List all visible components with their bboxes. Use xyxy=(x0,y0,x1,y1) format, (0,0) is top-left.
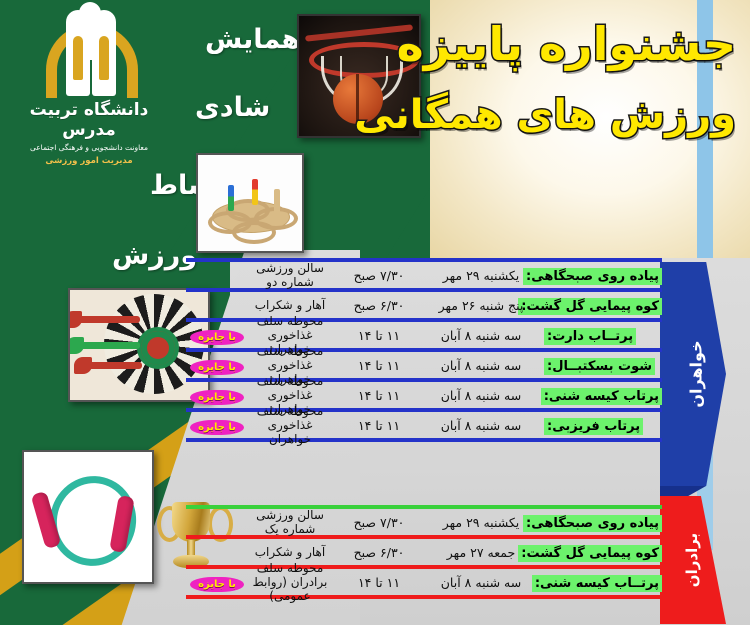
dart-green-1 xyxy=(78,342,140,349)
row-date: سه شنبه ۸ آبان xyxy=(422,328,540,343)
logo-university-name: دانشگاه تربیت مدرس xyxy=(14,100,164,140)
row-location: آهار و شکراب xyxy=(248,298,336,312)
row-date: یکشنبه ۲۹ مهر xyxy=(422,515,540,530)
decor-word-varzesh: ورزش xyxy=(112,240,197,271)
prize-badge: با جایزه xyxy=(190,577,244,592)
row-activity-label: شوت بسکتبــال: xyxy=(540,355,662,375)
logo-department-text: مدیریت امور ورزشی xyxy=(45,156,132,166)
women-schedule-table: پیاده روی صبحگاهی:یکشنبه ۲۹ مهر۷/۳۰ صبحس… xyxy=(186,258,662,442)
row-activity-label: پرتــاب کیسه شنی: xyxy=(540,572,662,592)
poster-canvas: دانشگاه تربیت مدرس معاونت دانشجویی و فره… xyxy=(0,0,750,625)
row-date: پنج شنبه ۲۶ مهر xyxy=(422,298,540,313)
row-prize-cell: با جایزه xyxy=(186,415,248,435)
row-time: ۷/۳۰ صبح xyxy=(336,268,422,283)
row-location: آهار و شکراب xyxy=(248,545,336,559)
row-activity-label: پیاده روی صبحگاهی: xyxy=(540,265,662,285)
ring-toss-photo xyxy=(196,153,304,253)
row-location: سالن ورزشی شماره یک xyxy=(248,508,336,536)
row-location: سالن ورزشی شماره دو xyxy=(248,261,336,289)
prize-badge: با جایزه xyxy=(190,330,244,345)
men-schedule-table: پیاده روی صبحگاهی:یکشنبه ۲۹ مهر۷/۳۰ صبحس… xyxy=(186,505,662,599)
row-activity-label: پرتــاب دارت: xyxy=(540,325,662,345)
logo-emblem-icon xyxy=(30,6,148,98)
row-time: ۱۱ تا ۱۴ xyxy=(336,328,422,343)
table-row: پرتاب فریزبی:سه شنبه ۸ آبان۱۱ تا ۱۴محوطه… xyxy=(186,412,662,438)
row-activity-text: پرتــاب دارت: xyxy=(544,328,636,345)
decor-word-shadi: شادی xyxy=(195,92,270,123)
row-activity-text: پیاده روی صبحگاهی: xyxy=(523,515,662,532)
ring-toss-peg-red xyxy=(252,179,258,205)
row-activity-label: پیاده روی صبحگاهی: xyxy=(540,512,662,532)
row-date: سه شنبه ۸ آبان xyxy=(422,418,540,433)
row-location: محوطه سلف برادران (روابط عمومی) xyxy=(248,561,336,603)
row-prize-cell: با جایزه xyxy=(186,572,248,592)
prize-badge: با جایزه xyxy=(190,420,244,435)
row-activity-text: پیاده روی صبحگاهی: xyxy=(523,268,662,285)
table-row: پیاده روی صبحگاهی:یکشنبه ۲۹ مهر۷/۳۰ صبحس… xyxy=(186,262,662,288)
row-time: ۱۱ تا ۱۴ xyxy=(336,358,422,373)
row-date: سه شنبه ۸ آبان xyxy=(422,388,540,403)
logo-tulip-right xyxy=(92,10,116,96)
row-time: ۷/۳۰ صبح xyxy=(336,515,422,530)
row-activity-text: پرتاب کیسه شنی: xyxy=(541,388,662,405)
row-activity-label: کوه پیمایی گل گشت: xyxy=(540,542,662,562)
row-time: ۱۱ تا ۱۴ xyxy=(336,388,422,403)
row-prize-cell: با جایزه xyxy=(186,355,248,375)
row-activity-text: پرتــاب کیسه شنی: xyxy=(532,575,662,592)
logo-department-line: مدیریت امور ورزشی xyxy=(14,156,164,167)
row-prize-cell: با جایزه xyxy=(186,385,248,405)
men-arrow-label: برادران xyxy=(683,480,701,625)
row-date: سه شنبه ۸ آبان xyxy=(422,575,540,590)
women-arrow-label: خواهران xyxy=(687,274,706,474)
row-time: ۶/۳۰ صبح xyxy=(336,545,422,560)
row-time: ۱۱ تا ۱۴ xyxy=(336,418,422,433)
prize-badge: با جایزه xyxy=(190,390,244,405)
row-prize-cell: با جایزه xyxy=(186,325,248,345)
dart-red-1 xyxy=(76,316,140,323)
prize-badge: با جایزه xyxy=(190,360,244,375)
row-activity-label: پرتاب فریزبی: xyxy=(540,415,662,435)
row-activity-label: پرتاب کیسه شنی: xyxy=(540,385,662,405)
row-date: جمعه ۲۷ مهر xyxy=(422,545,540,560)
logo-deputy-line: معاونت دانشجویی و فرهنگی اجتماعی xyxy=(14,143,164,153)
title-line-2: ورزش های همگانی xyxy=(436,94,736,136)
row-activity-label: کوه پیمایی گل گشت: xyxy=(540,295,662,315)
jump-rope-photo xyxy=(22,450,154,584)
row-time: ۶/۳۰ صبح xyxy=(336,298,422,313)
row-location: محوطه سلف غذاخوری خواهران xyxy=(248,404,336,446)
logo-tulip-left xyxy=(66,10,90,96)
dart-red-2 xyxy=(86,362,142,369)
poster-title: جشنواره پاییزه ورزش های همگانی xyxy=(436,20,736,136)
table-row: پیاده روی صبحگاهی:یکشنبه ۲۹ مهر۷/۳۰ صبحس… xyxy=(186,509,662,535)
title-line-1: جشنواره پاییزه xyxy=(436,20,736,68)
university-logo: دانشگاه تربیت مدرس معاونت دانشجویی و فره… xyxy=(14,6,164,156)
ring-toss-peg-blue xyxy=(228,185,234,211)
row-activity-text: شوت بسکتبــال: xyxy=(544,358,655,375)
row-date: سه شنبه ۸ آبان xyxy=(422,358,540,373)
decor-word-hamayesh: همایش xyxy=(205,24,300,55)
ring-toss-peg-plain xyxy=(274,189,280,215)
table-row: پرتــاب کیسه شنی:سه شنبه ۸ آبان۱۱ تا ۱۴م… xyxy=(186,569,662,595)
row-time: ۱۱ تا ۱۴ xyxy=(336,575,422,590)
row-activity-text: پرتاب فریزبی: xyxy=(544,418,643,435)
row-date: یکشنبه ۲۹ مهر xyxy=(422,268,540,283)
